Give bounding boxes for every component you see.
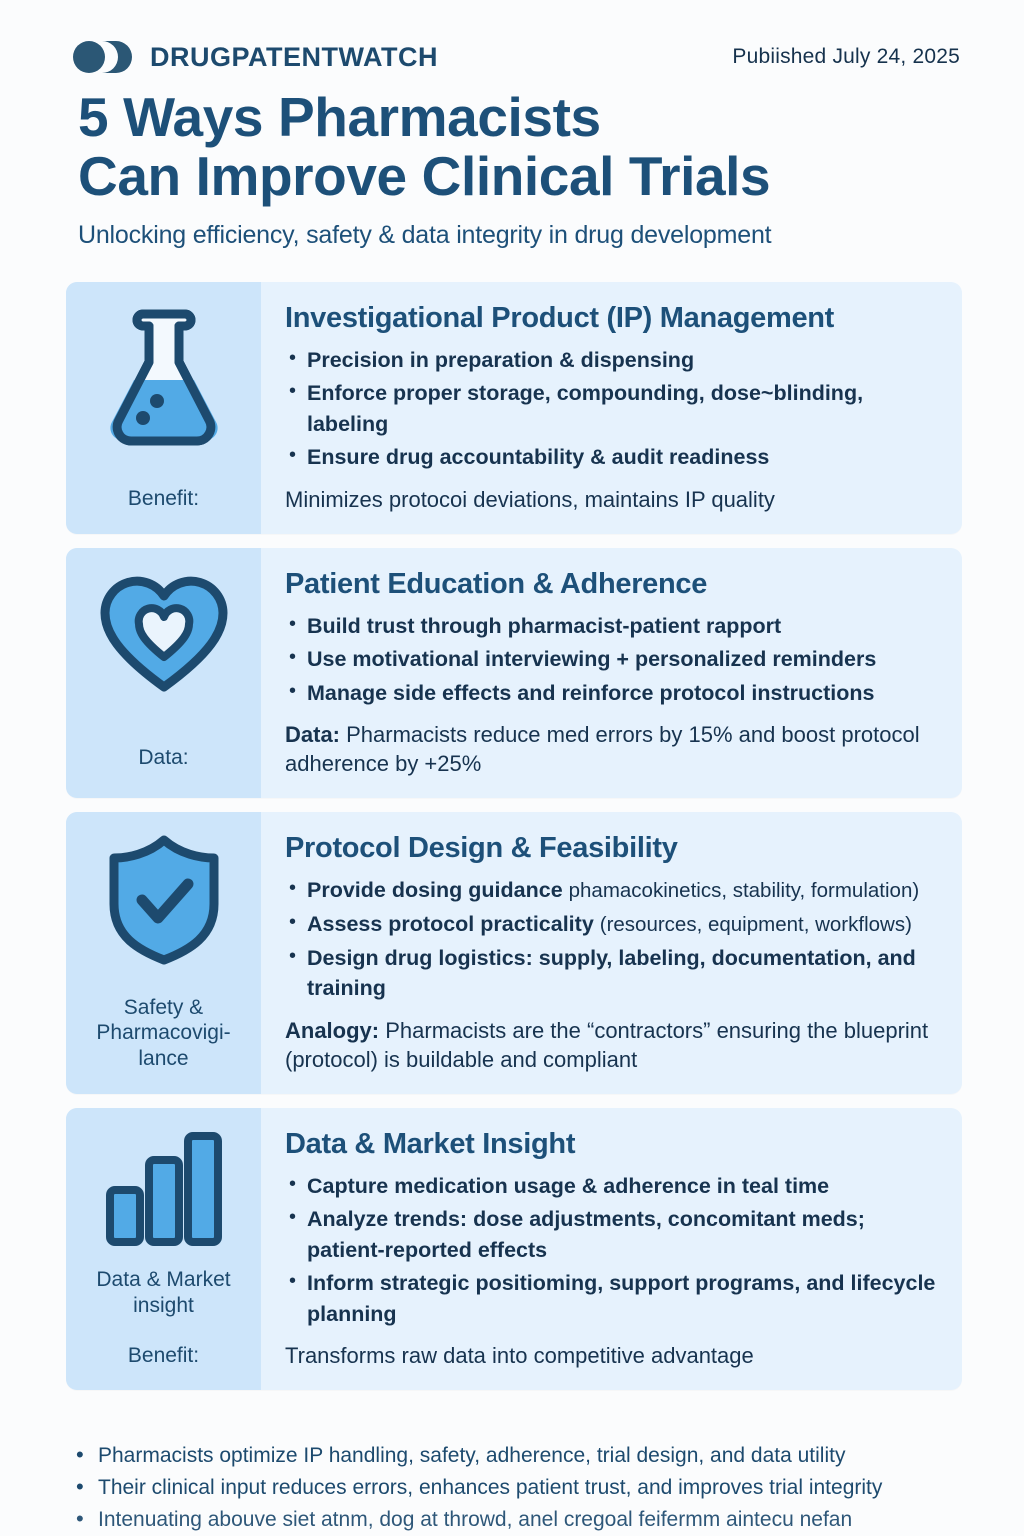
card-left-label: Data & Market insight: [76, 1267, 251, 1322]
note-text: Minimizes protocoi deviations, maintains…: [285, 487, 775, 512]
list-item: Inform strategic positioming, support pr…: [285, 1268, 940, 1329]
card-protocol-design: Safety & Pharmacovigi-lance Protocol Des…: [66, 812, 962, 1093]
bullet-list: Capture medication usage & adherence in …: [285, 1171, 940, 1330]
list-item: Enforce proper storage, compounding, dos…: [285, 378, 940, 439]
infographic-page: DRUGPATENTWATCH Pubiished July 24, 2025 …: [0, 0, 1024, 1536]
card-left-column: Benefit:: [66, 282, 261, 534]
summary-bullets: Pharmacists optimize IP handling, safety…: [0, 1440, 1024, 1536]
cards-list: Benefit: Investigational Product (IP) Ma…: [0, 282, 1024, 1390]
bullet-list: Provide dosing guidance phamacokinetics,…: [285, 875, 940, 1003]
card-left-label: Benefit:: [128, 486, 199, 516]
circle-d-logo-icon: [72, 40, 136, 74]
card-content: Protocol Design & Feasibility Provide do…: [261, 812, 962, 1093]
title-block: 5 Ways Pharmacists Can Improve Clinical …: [0, 74, 1024, 250]
brand-name: DRUGPATENTWATCH: [150, 42, 438, 73]
card-patient-education: Data: Patient Education & Adherence Buil…: [66, 548, 962, 799]
page-title-line-2: Can Improve Clinical Trials: [78, 147, 960, 206]
list-item: Build trust through pharmacist-patient r…: [285, 611, 940, 642]
card-left-column: Safety & Pharmacovigi-lance: [66, 812, 261, 1093]
page-subtitle: Unlocking efficiency, safety & data inte…: [78, 221, 960, 250]
list-item: Assess protocol practicality (resources,…: [285, 909, 940, 940]
flask-icon: [105, 304, 223, 450]
list-item: Precision in preparation & dispensing: [285, 345, 940, 376]
card-note: Data: Pharmacists reduce med errors by 1…: [285, 720, 940, 778]
card-data-market-insight: Data & Market insight Benefit: Data & Ma…: [66, 1108, 962, 1391]
note-lead: Analogy:: [285, 1018, 379, 1043]
card-left-label: Safety & Pharmacovigi-lance: [76, 995, 251, 1076]
bar-chart-icon: [104, 1130, 224, 1248]
card-left-label: Data:: [138, 745, 188, 775]
summary-item: Intenuating abouve siet atnm, dog at thr…: [72, 1504, 978, 1536]
list-item: Ensure drug accountability & audit readi…: [285, 442, 940, 473]
card-content: Data & Market Insight Capture medication…: [261, 1108, 962, 1391]
note-text: Pharmacists reduce med errors by 15% and…: [285, 722, 920, 776]
header-bar: DRUGPATENTWATCH Pubiished July 24, 2025: [0, 0, 1024, 74]
summary-item: Their clinical input reduces errors, enh…: [72, 1472, 978, 1504]
published-date: Pubiished July 24, 2025: [732, 45, 960, 69]
note-text: Transforms raw data into competitive adv…: [285, 1343, 754, 1368]
list-item: Use motivational interviewing + personal…: [285, 644, 940, 675]
note-text: Pharmacists are the “contractors” ensuri…: [285, 1018, 928, 1072]
card-note: Analogy: Pharmacists are the “contractor…: [285, 1016, 940, 1074]
list-item: Design drug logistics: supply, labeling,…: [285, 943, 940, 1004]
card-left-column: Data:: [66, 548, 261, 799]
list-item: Analyze trends: dose adjustments, concom…: [285, 1204, 940, 1265]
card-ip-management: Benefit: Investigational Product (IP) Ma…: [66, 282, 962, 534]
card-content: Patient Education & Adherence Build trus…: [261, 548, 962, 799]
page-title-line-1: 5 Ways Pharmacists: [78, 88, 960, 147]
card-title: Investigational Product (IP) Management: [285, 302, 940, 335]
list-item: Capture medication usage & adherence in …: [285, 1171, 940, 1202]
note-lead: Data:: [285, 722, 340, 747]
card-content: Investigational Product (IP) Management …: [261, 282, 962, 534]
card-title: Patient Education & Adherence: [285, 568, 940, 601]
card-title: Protocol Design & Feasibility: [285, 832, 940, 865]
card-title: Data & Market Insight: [285, 1128, 940, 1161]
card-note: Minimizes protocoi deviations, maintains…: [285, 485, 940, 514]
summary-item: Pharmacists optimize IP handling, safety…: [72, 1440, 978, 1472]
card-left-label-secondary: Benefit:: [128, 1343, 199, 1373]
bullet-list: Build trust through pharmacist-patient r…: [285, 611, 940, 709]
list-item: Manage side effects and reinforce protoc…: [285, 678, 940, 709]
shield-check-icon: [104, 834, 224, 966]
list-item: Provide dosing guidance phamacokinetics,…: [285, 875, 940, 906]
brand: DRUGPATENTWATCH: [72, 40, 438, 74]
card-note: Transforms raw data into competitive adv…: [285, 1341, 940, 1370]
heart-icon: [99, 575, 229, 693]
bullet-list: Precision in preparation & dispensing En…: [285, 345, 940, 473]
card-left-column: Data & Market insight Benefit:: [66, 1108, 261, 1391]
